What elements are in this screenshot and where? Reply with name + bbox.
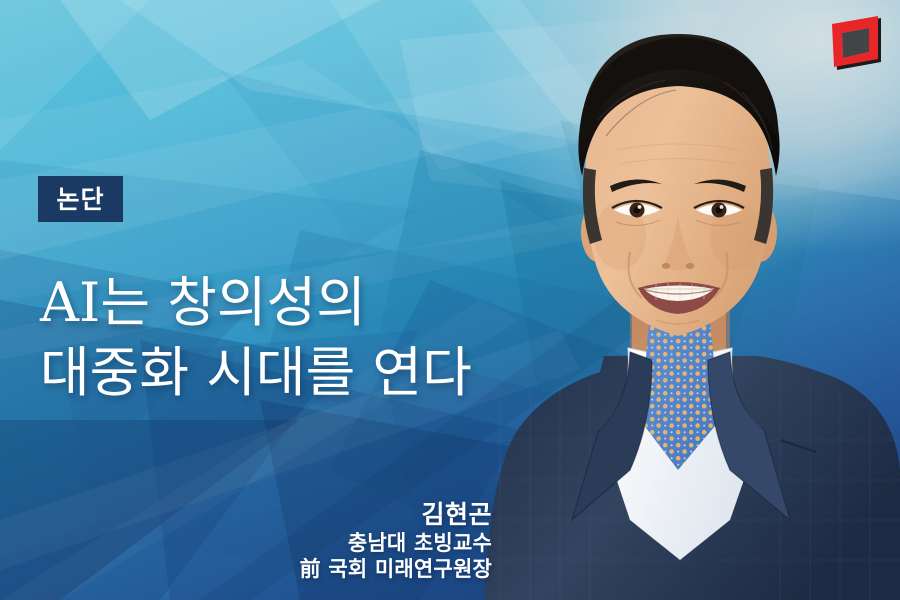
- author-former-title: 前 국회 미래연구원장: [180, 556, 492, 583]
- publisher-logo[interactable]: [826, 12, 888, 74]
- author-affiliation: 충남대 초빙교수: [180, 530, 492, 557]
- article-hero-card: 논단 AI는 창의성의 대중화 시대를 연다 김현곤 충남대 초빙교수 前 국회…: [0, 0, 900, 600]
- page-title: AI는 창의성의 대중화 시대를 연다: [40, 268, 600, 408]
- category-badge[interactable]: 논단: [38, 176, 123, 222]
- headline-line-2: 대중화 시대를 연다: [40, 338, 600, 408]
- author-name: 김현곤: [180, 500, 492, 530]
- headline-line-1: AI는 창의성의: [40, 268, 600, 338]
- author-credit: 김현곤 충남대 초빙교수 前 국회 미래연구원장: [180, 500, 492, 583]
